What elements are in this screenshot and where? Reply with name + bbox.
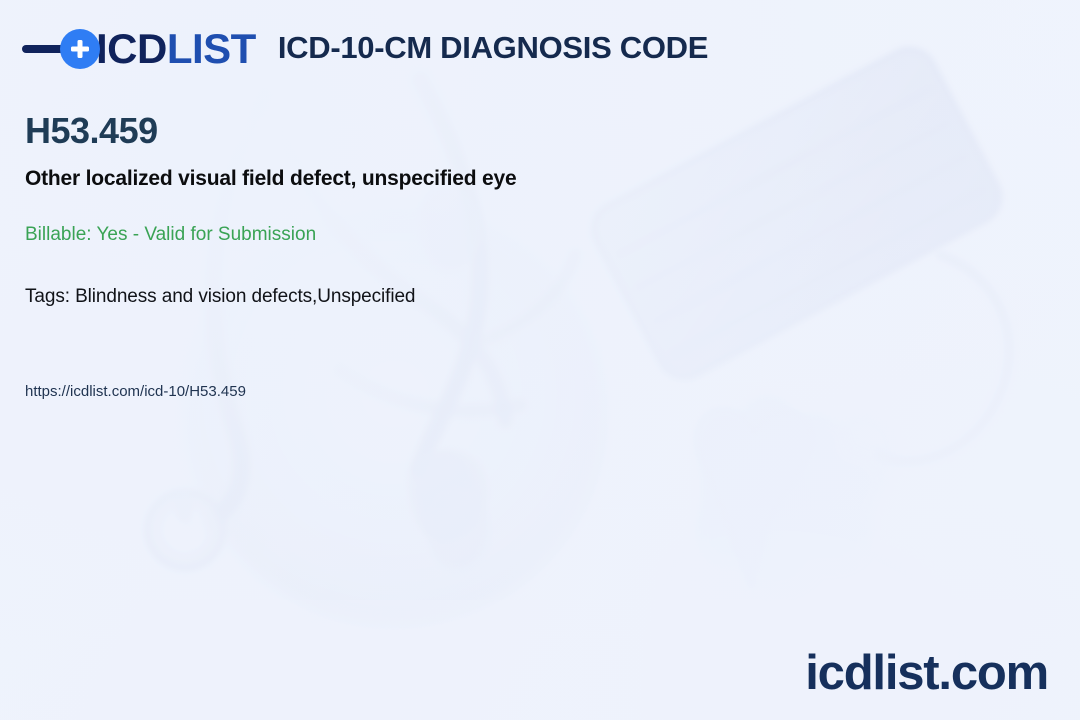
logo-word-list: LIST: [167, 25, 256, 72]
source-url[interactable]: https://icdlist.com/icd-10/H53.459: [25, 383, 246, 400]
brand-footer: icdlist.com: [805, 649, 1048, 698]
logo-word-icd: ICD: [96, 25, 167, 72]
page-title: ICD-10-CM DIAGNOSIS CODE: [278, 30, 708, 68]
page-header: ICDLIST ICD-10-CM DIAGNOSIS CODE: [22, 26, 708, 72]
icd-code-card: ICDLIST ICD-10-CM DIAGNOSIS CODE H53.459…: [0, 0, 1080, 720]
plus-circle-icon: [60, 29, 100, 69]
tags-list: Tags: Blindness and vision defects,Unspe…: [25, 286, 415, 308]
icdlist-logo[interactable]: ICDLIST: [22, 26, 256, 72]
diagnosis-description: Other localized visual field defect, uns…: [25, 167, 516, 191]
billable-status: Billable: Yes - Valid for Submission: [25, 224, 316, 246]
logo-wordmark: ICDLIST: [96, 28, 256, 70]
diagnosis-code: H53.459: [25, 112, 158, 150]
